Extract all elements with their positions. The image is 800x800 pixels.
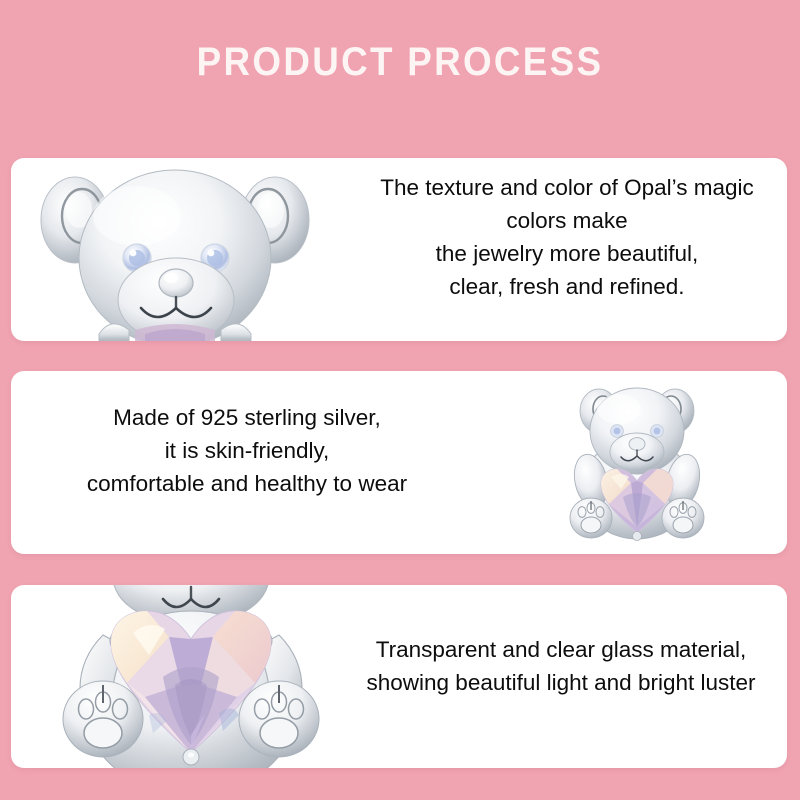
panel-3-line-1: Transparent and clear glass material, <box>331 633 787 666</box>
panel-3-copy: Transparent and clear glass material, sh… <box>331 633 787 699</box>
bear-charm-closeup-image <box>25 158 325 341</box>
panel-card-1: The texture and color of Opal’s magic co… <box>11 158 787 341</box>
product-process-page: PRODUCT PROCESS <box>0 0 800 800</box>
panel-1-line-4: clear, fresh and refined. <box>347 270 787 303</box>
bear-charm-full-image <box>551 377 723 549</box>
panel-1-line-1: The texture and color of Opal’s magic <box>347 171 787 204</box>
panel-1-line-3: the jewelry more beautiful, <box>347 237 787 270</box>
panel-2-copy: Made of 925 sterling silver, it is skin-… <box>37 401 457 500</box>
panel-1-copy: The texture and color of Opal’s magic co… <box>347 171 787 303</box>
panel-card-2: Made of 925 sterling silver, it is skin-… <box>11 371 787 554</box>
page-title: PRODUCT PROCESS <box>32 42 768 82</box>
panel-2-line-3: comfortable and healthy to wear <box>37 467 457 500</box>
panel-card-3: Transparent and clear glass material, sh… <box>11 585 787 768</box>
bear-charm-heart-gem-image <box>41 585 341 768</box>
panel-2-line-1: Made of 925 sterling silver, <box>37 401 457 434</box>
panel-2-line-2: it is skin-friendly, <box>37 434 457 467</box>
panel-3-line-2: showing beautiful light and bright luste… <box>331 666 787 699</box>
panel-1-line-2: colors make <box>347 204 787 237</box>
